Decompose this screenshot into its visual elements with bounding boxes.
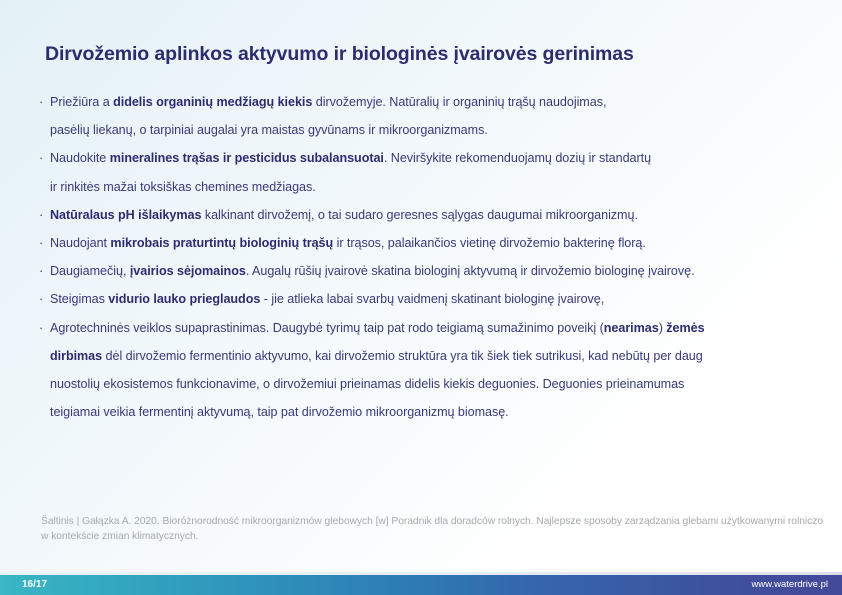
slide-canvas: Dirvožemio aplinkos aktyvumo ir biologin… xyxy=(0,0,842,595)
list-item-wrap-line: pasėlių liekanų, o tarpiniai augalai yra… xyxy=(39,116,829,144)
bottom-bar: 16/17 www.waterdrive.pl xyxy=(0,575,842,595)
list-item: ·Natūralaus pH išlaikymas kalkinant dirv… xyxy=(39,201,829,229)
list-item: ·Daugiamečių, įvairios sėjomainos. Augal… xyxy=(39,257,829,285)
bullet-marker-icon: · xyxy=(39,257,50,285)
body-text: ir trąsos, palaikančios vietinę dirvožem… xyxy=(333,236,646,250)
bullet-marker-icon: · xyxy=(39,285,50,313)
bullet-marker-icon: · xyxy=(39,314,50,342)
list-item: ·Naudokite mineralines trąšas ir pestici… xyxy=(39,144,829,200)
body-text: Priežiūra a xyxy=(50,95,113,109)
list-item-wrap-line: dirbimas dėl dirvožemio fermentinio akty… xyxy=(39,342,829,370)
emphasis-text: Natūralaus pH išlaikymas xyxy=(50,208,201,222)
list-item-first-line: ·Priežiūra a didelis organinių medžiagų … xyxy=(39,88,829,116)
emphasis-text: dirbimas xyxy=(50,349,102,363)
bullet-marker-icon: · xyxy=(39,229,50,257)
body-text: . Augalų rūšių įvairovė skatina biologin… xyxy=(246,264,695,278)
list-item-first-line: ·Naudokite mineralines trąšas ir pestici… xyxy=(39,144,829,172)
emphasis-text: didelis organinių medžiagų kiekis xyxy=(113,95,312,109)
body-text: Daugiamečių, xyxy=(50,264,130,278)
emphasis-text: vidurio lauko prieglaudos xyxy=(108,292,260,306)
body-text: - jie atlieka labai svarbų vaidmenį skat… xyxy=(260,292,604,306)
list-item-first-line: ·Agrotechninės veiklos supaprastinimas. … xyxy=(39,314,829,342)
bullet-marker-icon: · xyxy=(39,201,50,229)
list-item-wrap-line: teigiamai veikia fermentinį aktyvumą, ta… xyxy=(39,398,829,426)
body-text: teigiamai veikia fermentinį aktyvumą, ta… xyxy=(50,405,509,419)
body-text: ir rinkitės mažai toksiškas chemines med… xyxy=(50,180,316,194)
list-item: ·Naudojant mikrobais praturtintų biologi… xyxy=(39,229,829,257)
body-text: Agrotechninės veiklos supaprastinimas. D… xyxy=(50,321,600,335)
body-text: nuostolių ekosistemos funkcionavime, o d… xyxy=(50,377,684,391)
body-text: kalkinant dirvožemį, o tai sudaro geresn… xyxy=(201,208,638,222)
page-title: Dirvožemio aplinkos aktyvumo ir biologin… xyxy=(45,43,634,66)
list-item: ·Priežiūra a didelis organinių medžiagų … xyxy=(39,88,829,144)
body-text: Naudojant xyxy=(50,236,110,250)
emphasis-text: įvairios sėjomainos xyxy=(130,264,246,278)
list-item-first-line: ·Naudojant mikrobais praturtintų biologi… xyxy=(39,229,829,257)
bullet-marker-icon: · xyxy=(39,88,50,116)
bullet-list: ·Priežiūra a didelis organinių medžiagų … xyxy=(39,88,829,426)
list-item-wrap-line: nuostolių ekosistemos funkcionavime, o d… xyxy=(39,370,829,398)
body-text: . Neviršykite rekomenduojamų dozių ir st… xyxy=(384,151,651,165)
emphasis-text: nearimas xyxy=(604,321,659,335)
emphasis-text: mineralines trąšas ir pesticidus subalan… xyxy=(110,151,384,165)
body-text: dirvožemyje. Natūralių ir organinių trąš… xyxy=(312,95,606,109)
emphasis-text: žemės xyxy=(666,321,704,335)
list-item-first-line: ·Steigimas vidurio lauko prieglaudos - j… xyxy=(39,285,829,313)
body-text: pasėlių liekanų, o tarpiniai augalai yra… xyxy=(50,123,488,137)
page-indicator: 16/17 xyxy=(22,575,47,595)
list-item-wrap-line: ir rinkitės mažai toksiškas chemines med… xyxy=(39,173,829,201)
body-text: Steigimas xyxy=(50,292,108,306)
list-item-first-line: ·Natūralaus pH išlaikymas kalkinant dirv… xyxy=(39,201,829,229)
body-text: Naudokite xyxy=(50,151,110,165)
list-item-first-line: ·Daugiamečių, įvairios sėjomainos. Augal… xyxy=(39,257,829,285)
emphasis-text: mikrobais praturtintų biologinių trąšų xyxy=(110,236,333,250)
list-item: ·Steigimas vidurio lauko prieglaudos - j… xyxy=(39,285,829,313)
list-item: ·Agrotechninės veiklos supaprastinimas. … xyxy=(39,314,829,427)
website-link[interactable]: www.waterdrive.pl xyxy=(751,575,828,595)
body-text: dėl dirvožemio fermentinio aktyvumo, kai… xyxy=(102,349,703,363)
source-citation: Šaltinis | Gałązka A. 2020. Bioróżnorodn… xyxy=(41,514,831,544)
bullet-marker-icon: · xyxy=(39,144,50,172)
